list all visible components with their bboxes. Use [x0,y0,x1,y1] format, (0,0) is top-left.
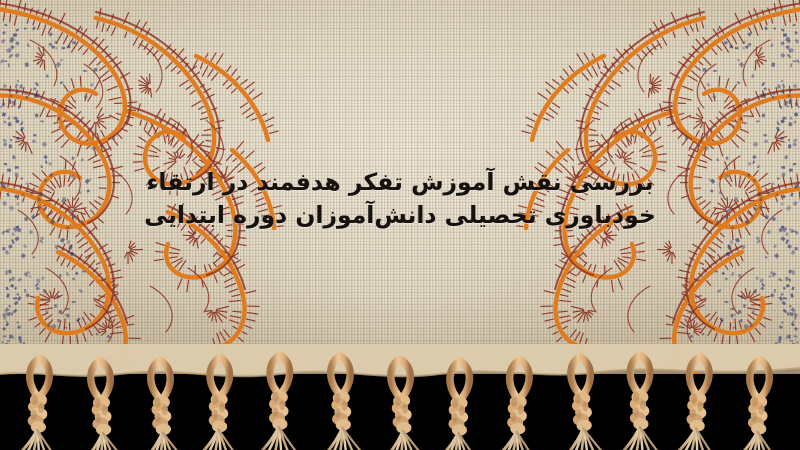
embroidery-ornament-right [500,0,800,374]
tassel-fringe [0,344,800,450]
fabric-panel: بررسی نقش آموزش تفکر هدفمند در ارتقاء خو… [0,0,800,374]
title-line-2: خودباوری تحصیلی دانش‌آموزان دوره ابتدایی [0,199,800,232]
title-line-1: بررسی نقش آموزش تفکر هدفمند در ارتقاء [0,166,800,199]
embroidery-ornament-left [0,0,300,374]
linen-weave-texture [0,0,800,374]
title-card: بررسی نقش آموزش تفکر هدفمند در ارتقاء خو… [0,0,800,450]
fabric-grain-overlay [0,0,800,374]
tassel [734,359,780,450]
title-block: بررسی نقش آموزش تفکر هدفمند در ارتقاء خو… [0,166,800,232]
